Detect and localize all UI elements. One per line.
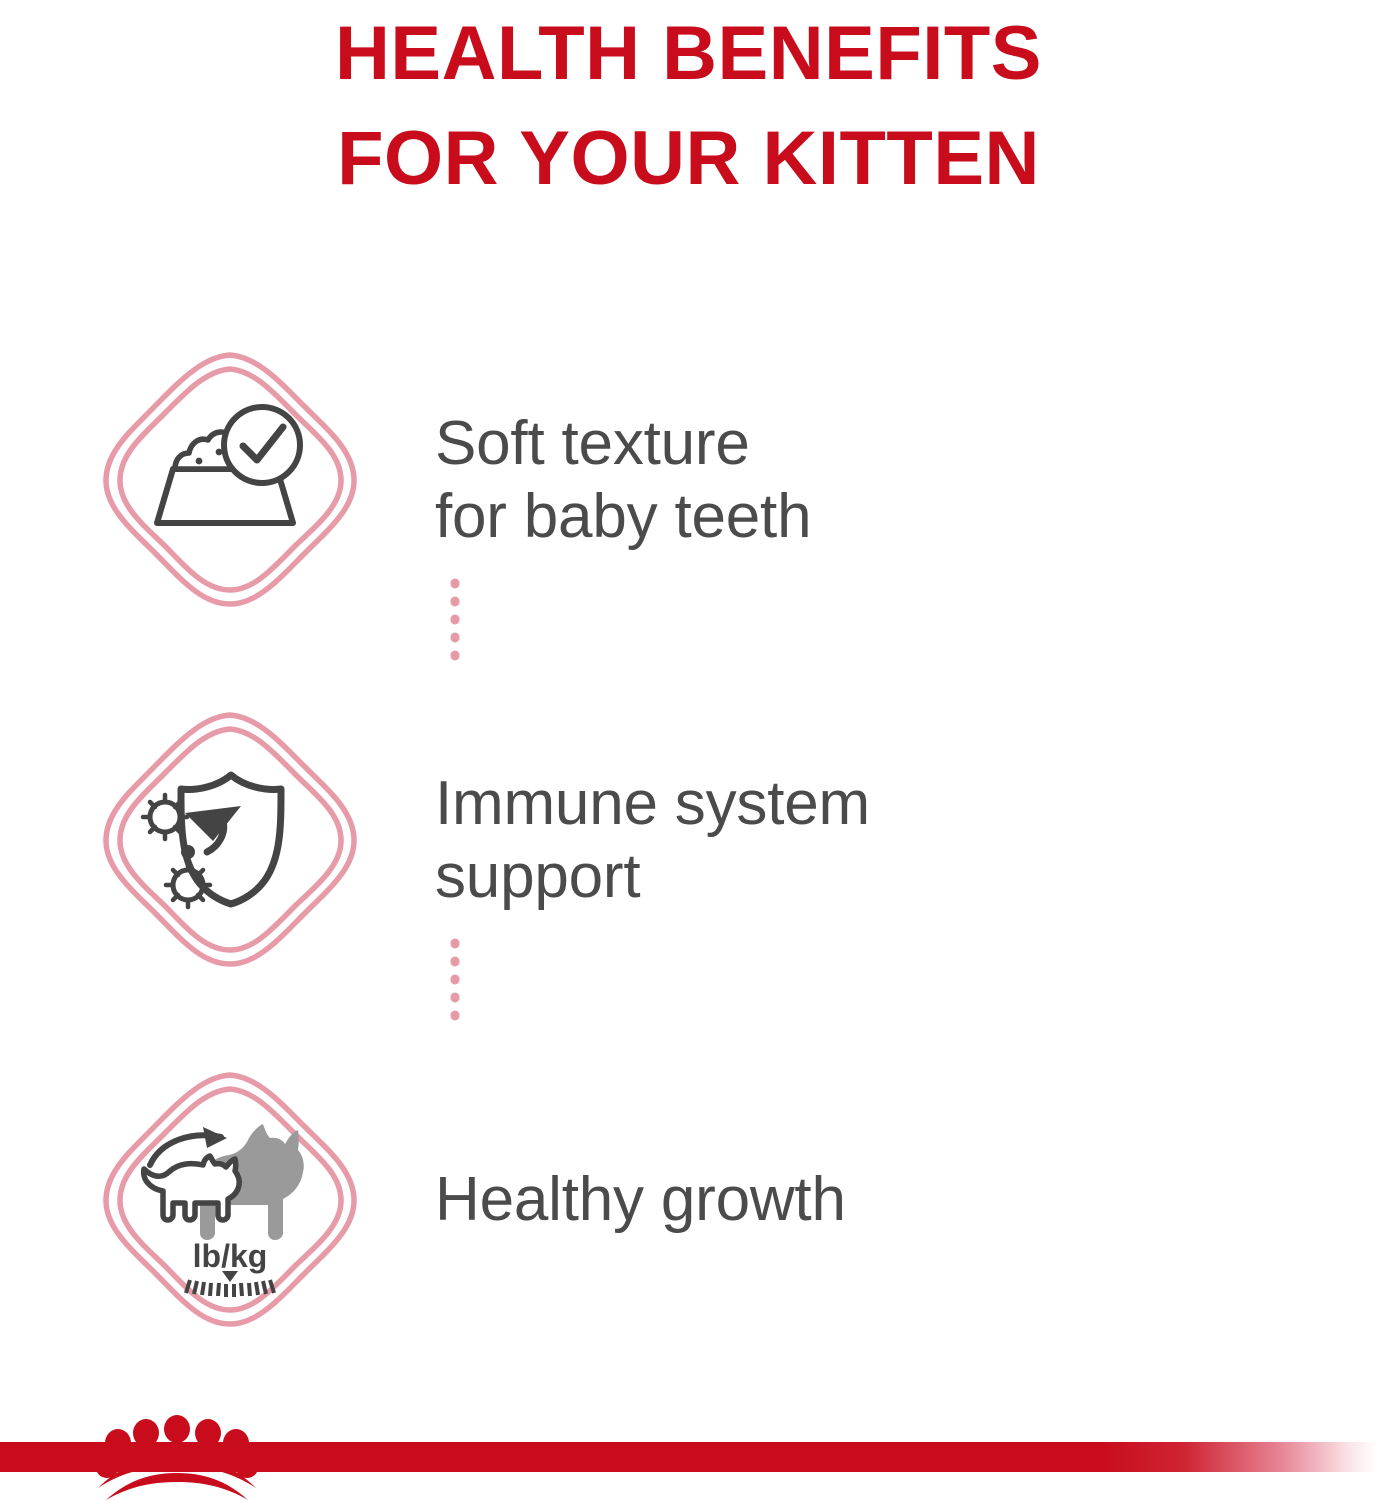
benefit-icon-cell: lb/kg [0,1050,620,1350]
benefits-list: Soft texture for baby teeth [0,300,1377,1380]
benefit-icon-cell [0,330,620,630]
royal-canin-crown-logo [88,1402,268,1500]
benefit-item-soft-texture: Soft texture for baby teeth [0,300,1377,660]
benefit-icon-cell [0,690,620,990]
page-title: HEALTH BENEFITS FOR YOUR KITTEN [0,2,1377,212]
benefit-item-healthy-growth: lb/kg [0,1020,1377,1380]
icon-caption: lb/kg [193,1238,268,1274]
cat-growth-scale-icon: lb/kg [95,1065,365,1335]
page-title-line-2: FOR YOUR KITTEN [0,107,1377,212]
page-title-line-1: HEALTH BENEFITS [0,2,1377,107]
benefit-item-immune-system: Immune system support [0,660,1377,1020]
health-benefits-panel: HEALTH BENEFITS FOR YOUR KITTEN [0,0,1377,1500]
food-bowl-check-icon [95,345,365,615]
footer [0,1404,1377,1500]
shield-germs-icon [95,705,365,975]
